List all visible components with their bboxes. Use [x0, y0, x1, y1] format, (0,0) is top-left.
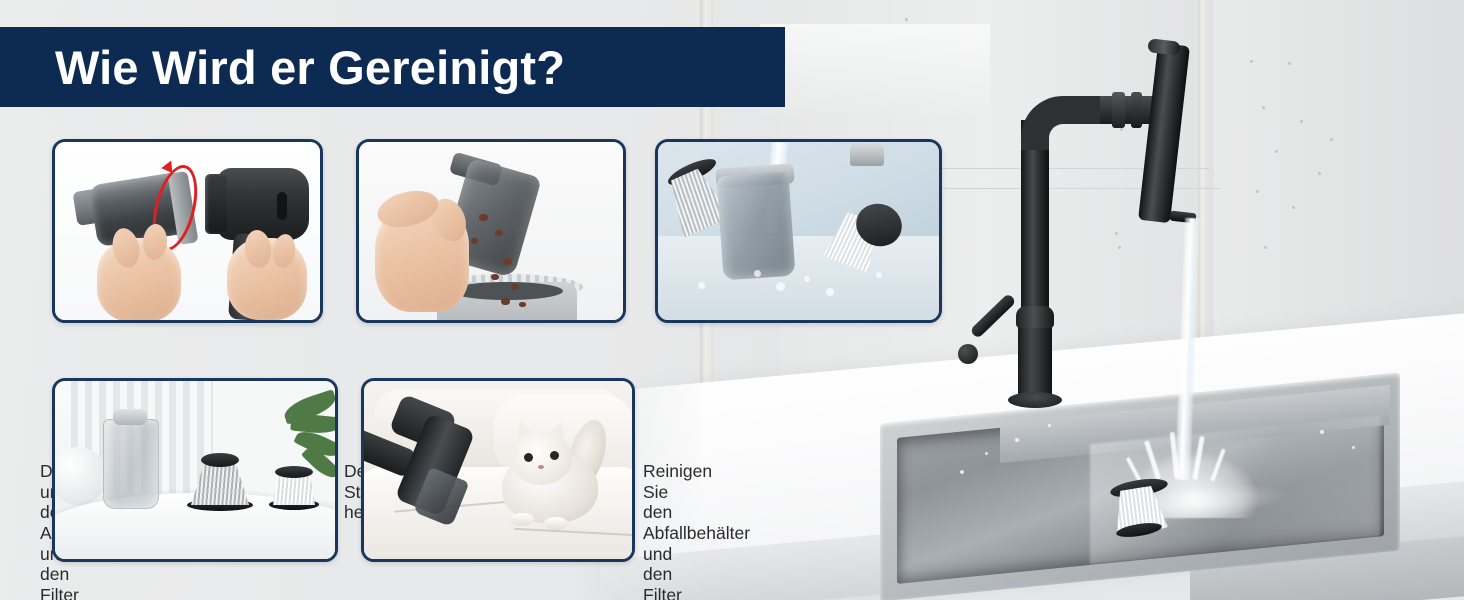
wall-screw — [1262, 106, 1265, 109]
infographic-root: Wie Wird er Gereinigt? — [0, 0, 1464, 600]
wall-screw — [1115, 232, 1118, 235]
step-image-1 — [52, 139, 323, 323]
water-bubble — [754, 270, 761, 277]
mesh-filter-cap — [201, 453, 239, 467]
wall-screw — [1250, 60, 1253, 63]
debris — [503, 258, 512, 265]
debris — [519, 302, 526, 307]
scene-empty-dust — [359, 142, 623, 320]
faucet-base — [1008, 392, 1062, 408]
wall-screw — [1256, 190, 1259, 193]
hepa-filter-cap — [275, 466, 313, 478]
faucet-riser — [1021, 120, 1049, 325]
step-image-3 — [655, 139, 942, 323]
wall-screw — [905, 18, 908, 21]
vacuum-vent — [277, 192, 287, 220]
debris — [495, 230, 503, 236]
wall-screw — [1288, 62, 1291, 65]
water-droplet — [1352, 446, 1355, 449]
debris — [501, 298, 510, 305]
cat-nose — [538, 465, 544, 469]
water-bubble — [804, 276, 810, 282]
faucet-tip — [850, 144, 884, 166]
sink-basin — [658, 236, 939, 320]
wall-screw — [1300, 120, 1303, 123]
debris — [479, 214, 488, 221]
debris — [511, 284, 518, 290]
vacuum-neck — [205, 174, 227, 234]
water-bubble — [876, 272, 882, 278]
cat-eye — [524, 453, 533, 462]
wall-screw — [1264, 246, 1267, 249]
dust-container — [716, 172, 795, 281]
cat-head — [510, 431, 572, 485]
wall-screw — [1118, 246, 1121, 249]
faucet-body — [1018, 318, 1052, 400]
wall-screw — [1292, 206, 1295, 209]
step-image-4 — [52, 378, 338, 562]
cat-eye — [550, 451, 559, 460]
scene-twist-to-detach — [55, 142, 320, 320]
water-droplet — [1320, 430, 1324, 434]
wall-screw — [1318, 172, 1321, 175]
vacuum-barrel — [217, 168, 309, 240]
water-droplet — [1048, 424, 1051, 427]
faucet-joint — [1112, 92, 1125, 128]
dust-container — [103, 419, 159, 509]
page-title: Wie Wird er Gereinigt? — [0, 44, 565, 91]
scene-reassemble-and-use — [364, 381, 632, 559]
dustcup-neck — [113, 409, 147, 425]
wall-screw — [1330, 138, 1333, 141]
water-bubble — [776, 282, 785, 291]
step-caption-3: Reinigen Sie den Abfallbehälter und den … — [643, 461, 667, 600]
scene-rinse-parts — [658, 142, 939, 320]
faucet-cap — [1016, 306, 1054, 328]
water-droplet — [985, 452, 988, 455]
debris — [491, 274, 499, 280]
wall-tape — [760, 24, 990, 114]
water-droplet — [960, 470, 964, 474]
scene-air-dry — [55, 381, 335, 559]
wall-screw — [1275, 150, 1278, 153]
cat-paw — [510, 513, 534, 526]
faucet-lever-knob[interactable] — [958, 344, 978, 364]
water-droplet — [1015, 438, 1019, 442]
faucet-joint — [1131, 92, 1142, 128]
water-bubble — [826, 288, 834, 296]
step-image-5 — [361, 378, 635, 562]
debris — [471, 238, 478, 244]
header-banner: Wie Wird er Gereinigt? — [0, 27, 785, 107]
cat-paw — [544, 517, 568, 530]
step-image-2 — [356, 139, 626, 323]
water-bubble — [698, 282, 705, 289]
